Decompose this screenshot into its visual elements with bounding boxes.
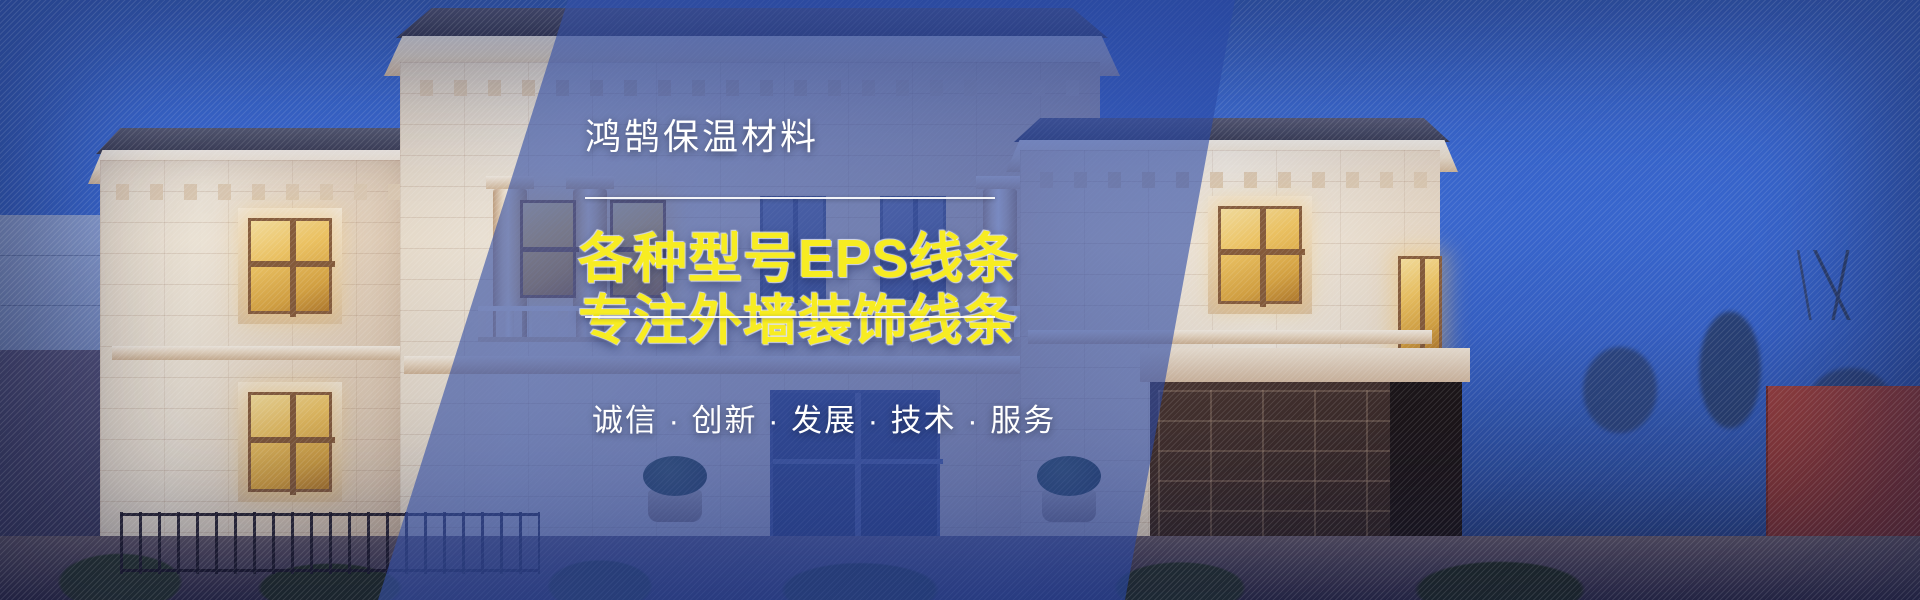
garage-header	[1140, 348, 1470, 382]
divider-bottom	[585, 316, 995, 318]
iron-fence	[120, 512, 540, 574]
divider-top	[585, 197, 995, 199]
planter-bush-right	[1037, 456, 1101, 496]
tree-branch	[1760, 250, 1910, 320]
tagline: 诚信 · 创新 · 发展 · 技术 · 服务	[592, 395, 1056, 440]
column-cap-1	[486, 176, 534, 189]
ledge-left	[112, 346, 428, 360]
window-left-upper	[248, 218, 332, 314]
ledge-right	[1028, 330, 1432, 344]
dentils-left	[116, 184, 416, 200]
window-right-upper	[1218, 206, 1302, 304]
roof-right	[1014, 118, 1450, 142]
dentils-right	[1040, 172, 1430, 188]
banner-text-block: 鸿鹄保温材料 各种型号EPS线条 专注外墙装饰线条 诚信 · 创新 · 发展 ·…	[560, 0, 1020, 600]
company-name: 鸿鹄保温材料	[585, 108, 819, 160]
promo-banner: 鸿鹄保温材料 各种型号EPS线条 专注外墙装饰线条 诚信 · 创新 · 发展 ·…	[0, 0, 1920, 600]
window-left-lower	[248, 392, 332, 492]
fence-rail-bottom	[120, 569, 540, 572]
